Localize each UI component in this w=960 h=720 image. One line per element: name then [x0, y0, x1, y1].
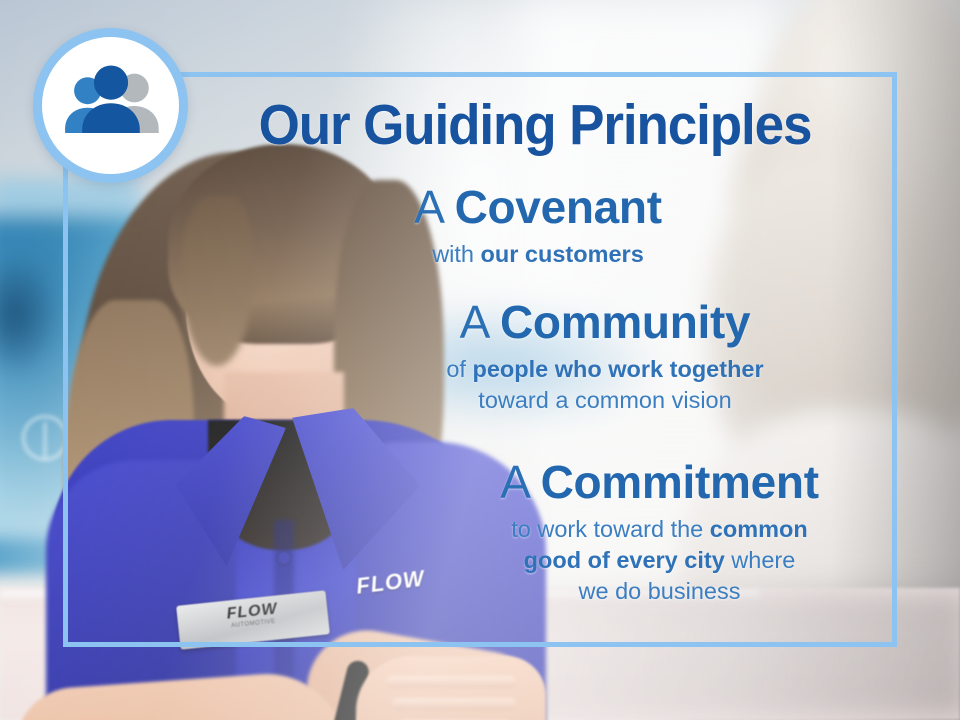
principle-block-community: A Community of people who work together …	[375, 298, 835, 416]
principle-keyword-2: Community	[500, 296, 750, 348]
principle-heading-covenant: A Covenant	[328, 183, 748, 232]
principle-3-sub-lead: to work toward the	[511, 516, 710, 542]
principle-1-sub-bold: our customers	[481, 241, 644, 267]
principle-3-sub-bold-2: good of every city	[524, 547, 725, 573]
principle-article-2: A	[460, 296, 500, 348]
page-title: Our Guiding Principles	[228, 96, 842, 154]
principle-article-3: A	[500, 456, 540, 508]
principle-2-sub-bold: people who work together	[472, 356, 763, 382]
poster-stage: FLOW FLOW AUTOMOTIVE	[0, 0, 960, 720]
principle-2-sub-line2: toward a common vision	[478, 387, 731, 413]
principle-3-sub-line3: we do business	[579, 578, 741, 604]
principle-heading-community: A Community	[375, 298, 835, 347]
text-layer: Our Guiding Principles A Covenant with o…	[0, 0, 960, 720]
principle-keyword-1: Covenant	[455, 181, 662, 233]
principle-subtext-commitment: to work toward the common good of every …	[432, 514, 887, 608]
principle-article-1: A	[414, 181, 454, 233]
principle-3-sub-bold-1: common	[710, 516, 808, 542]
principle-1-sub-lead: with	[432, 241, 480, 267]
principle-keyword-3: Commitment	[541, 456, 819, 508]
principle-block-covenant: A Covenant with our customers	[328, 183, 748, 270]
principle-heading-commitment: A Commitment	[432, 458, 887, 507]
principle-subtext-covenant: with our customers	[328, 239, 748, 270]
principle-3-sub-tail: where	[725, 547, 796, 573]
principle-subtext-community: of people who work together toward a com…	[375, 354, 835, 417]
principle-block-commitment: A Commitment to work toward the common g…	[432, 458, 887, 608]
principle-2-sub-lead: of	[446, 356, 472, 382]
